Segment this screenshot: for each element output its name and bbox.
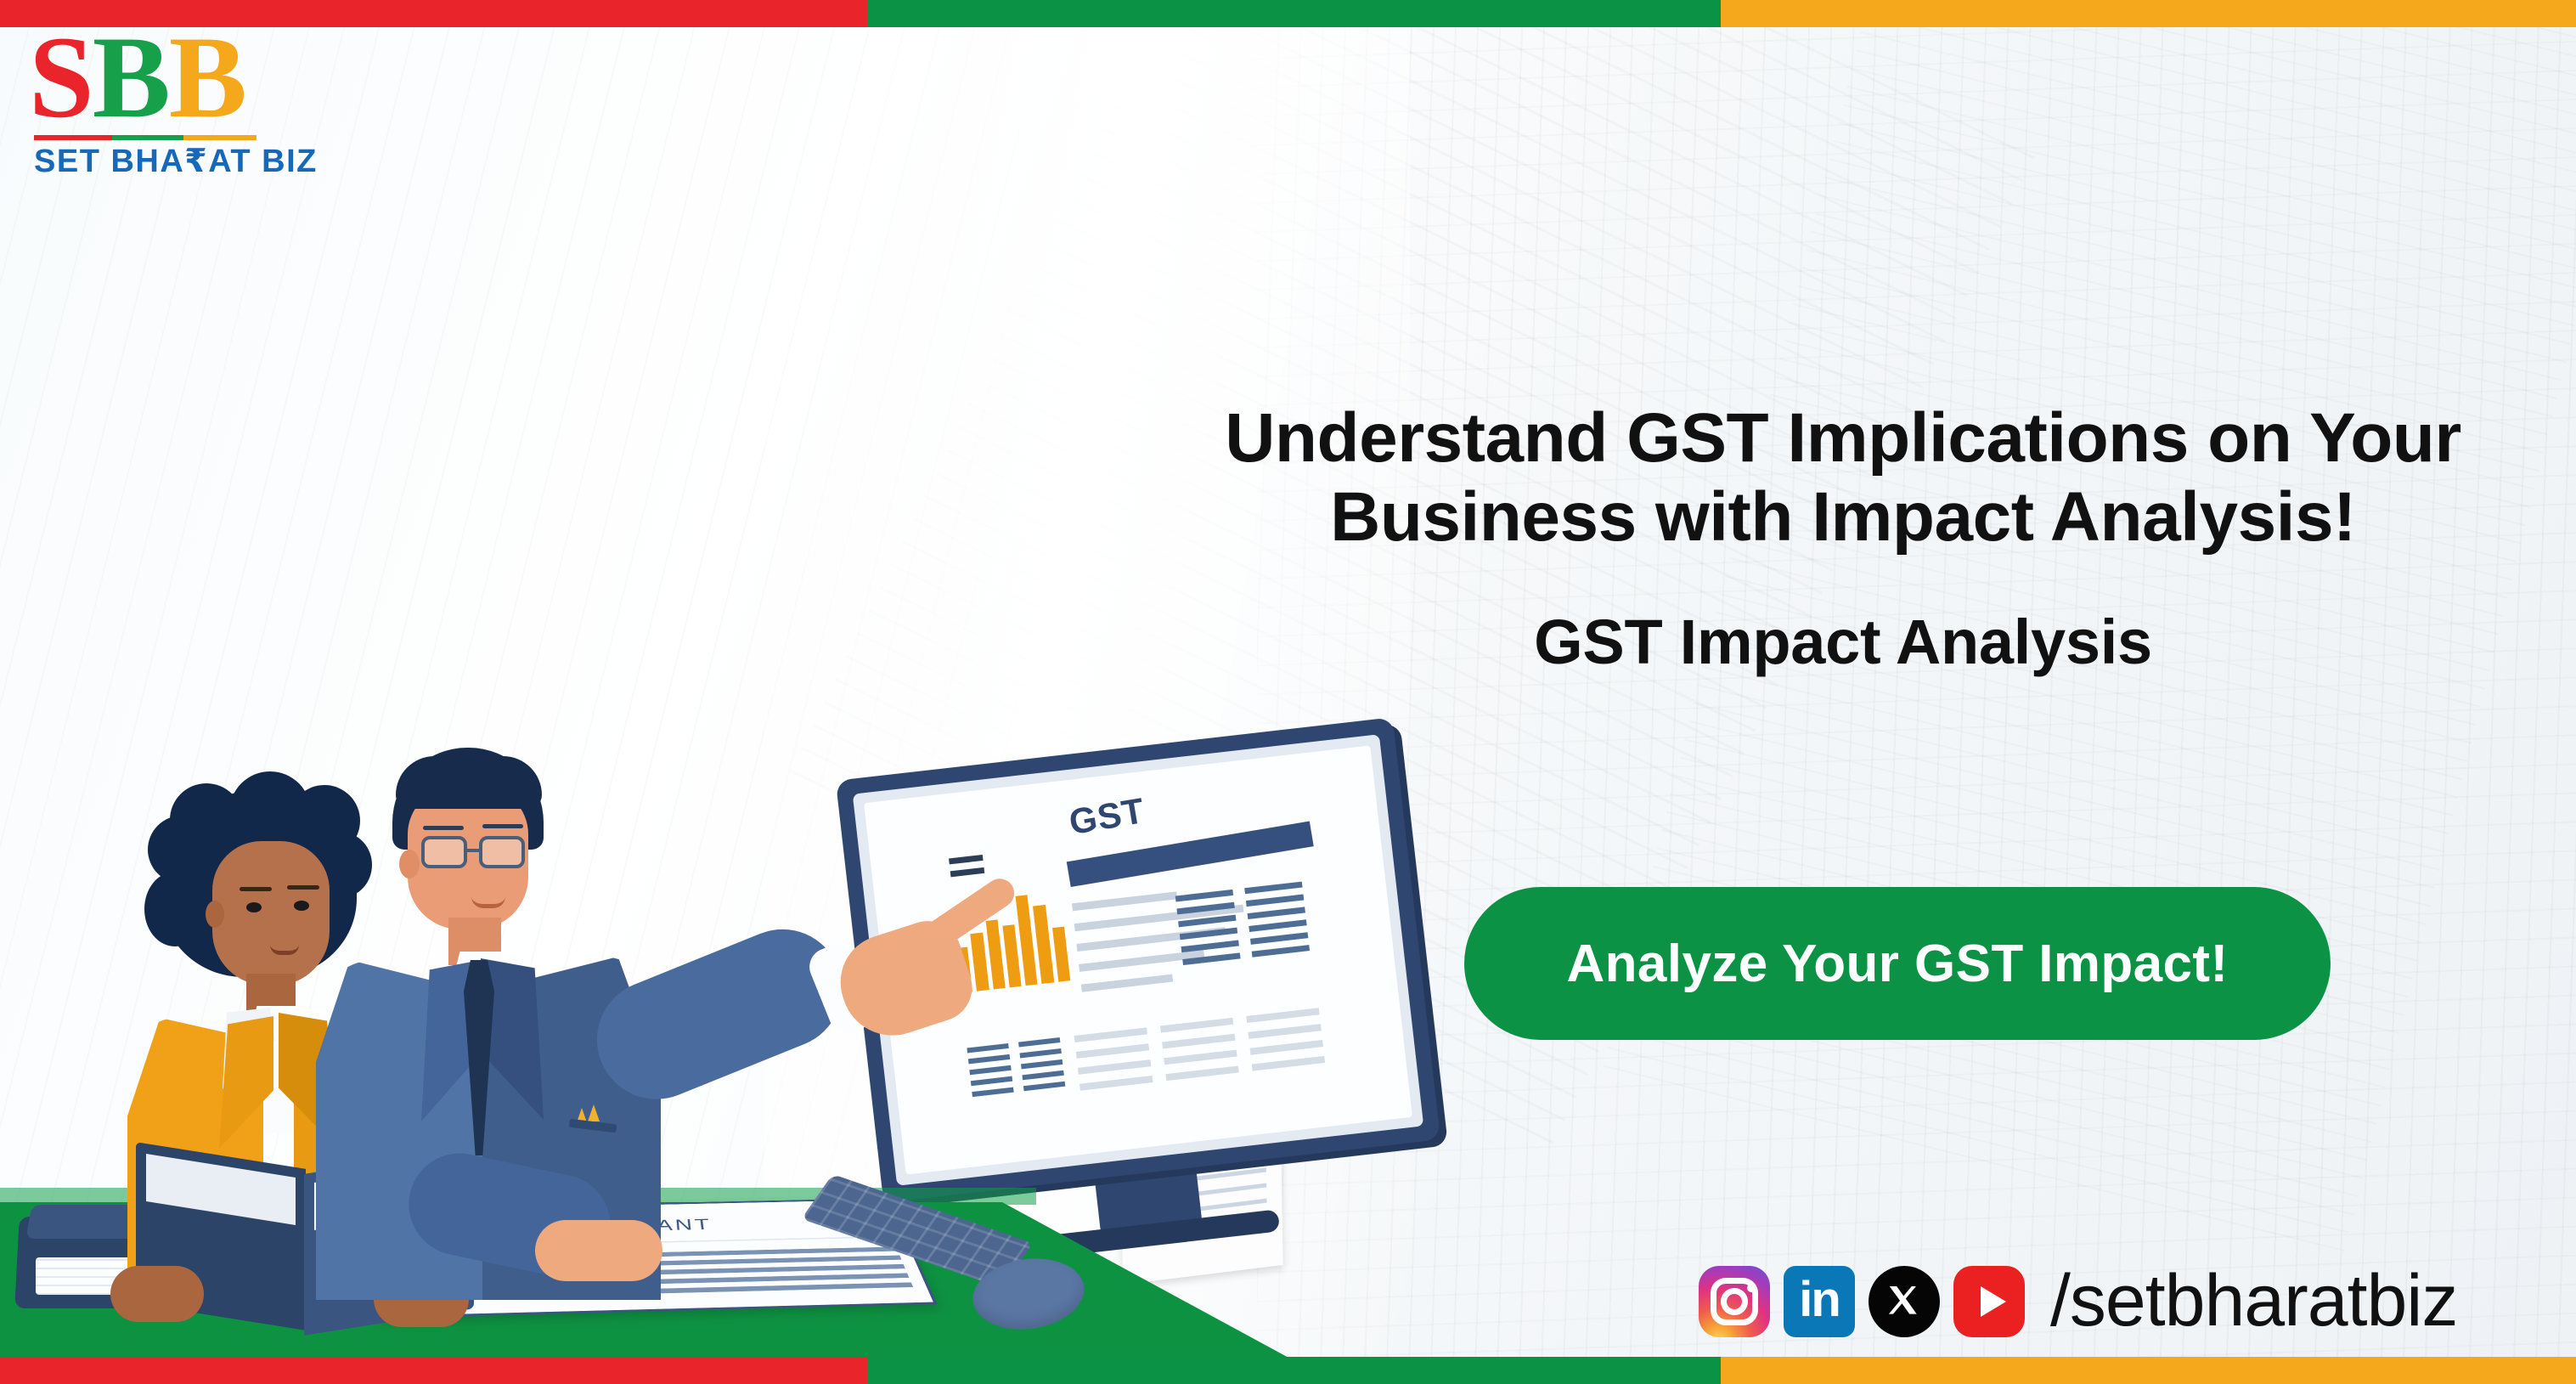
instagram-icon[interactable] bbox=[1699, 1266, 1770, 1337]
instagram-lens bbox=[1721, 1288, 1748, 1315]
logo-rule-green bbox=[112, 135, 183, 140]
table-column bbox=[967, 1043, 1014, 1103]
tick bbox=[949, 855, 984, 864]
table-row bbox=[1250, 932, 1308, 945]
instagram-dot bbox=[1747, 1284, 1756, 1292]
top-tricolor-bar bbox=[0, 0, 2576, 27]
table-row bbox=[1019, 1048, 1061, 1059]
paragraph-column bbox=[1160, 1018, 1240, 1090]
man-eyebrow bbox=[482, 824, 523, 828]
table-row bbox=[1022, 1070, 1063, 1081]
text-line bbox=[1076, 1043, 1149, 1059]
table-row bbox=[1181, 940, 1239, 952]
page-title: Understand GST Implications on Your Busi… bbox=[1130, 399, 2556, 556]
tricolor-segment-orange bbox=[1721, 1357, 2576, 1384]
logo-tagline-part2: AT BIZ bbox=[208, 144, 318, 179]
glasses-lens-left bbox=[421, 836, 467, 868]
logo-letter-b2: B bbox=[169, 12, 245, 142]
social-handle[interactable]: /setbharatbiz bbox=[2050, 1259, 2457, 1343]
table-column bbox=[1244, 882, 1311, 964]
headline-line-1: Understand GST Implications on Your bbox=[1130, 399, 2556, 478]
man-hand-resting bbox=[535, 1220, 662, 1281]
man-arm-pointing bbox=[579, 912, 860, 1117]
man-consultant bbox=[255, 748, 730, 1291]
table-row bbox=[971, 1076, 1012, 1087]
text-line bbox=[1081, 974, 1173, 992]
table-row bbox=[1244, 882, 1302, 895]
logo-tagline: SET BHA₹AT BIZ bbox=[34, 142, 284, 180]
rupee-icon: ₹ bbox=[184, 142, 208, 179]
bar bbox=[1002, 925, 1021, 988]
text-line bbox=[1074, 1027, 1147, 1042]
x-twitter-icon[interactable] bbox=[1869, 1266, 1940, 1337]
subheadline: GST Impact Analysis bbox=[1130, 606, 2556, 678]
glasses-bridge bbox=[467, 849, 481, 852]
table-row bbox=[1023, 1082, 1065, 1092]
glasses-lens-right bbox=[479, 836, 525, 868]
tricolor-segment-green bbox=[868, 0, 1721, 27]
gst-impact-analysis-banner: SBB SET BHA₹AT BIZ GST bbox=[0, 0, 2576, 1384]
text-line bbox=[1250, 1040, 1323, 1055]
table-column bbox=[1018, 1037, 1066, 1097]
table-row bbox=[969, 1065, 1011, 1076]
headline-line-2: Business with Impact Analysis! bbox=[1130, 478, 2556, 557]
woman-hair-puff bbox=[144, 872, 206, 946]
tick bbox=[950, 867, 985, 877]
woman-ear bbox=[206, 901, 224, 928]
text-line bbox=[1252, 1056, 1325, 1071]
table-row bbox=[1252, 945, 1310, 958]
text-line bbox=[1079, 1076, 1153, 1091]
man-eyebrow bbox=[423, 826, 464, 830]
text-line bbox=[1246, 1008, 1319, 1023]
text-line bbox=[1165, 1065, 1238, 1081]
woman-hand-left bbox=[110, 1266, 204, 1322]
logo-rule-red bbox=[34, 135, 112, 140]
bar bbox=[1052, 927, 1070, 982]
logo-rule-orange bbox=[183, 135, 256, 140]
tricolor-segment-red bbox=[0, 0, 868, 27]
table-row bbox=[1178, 915, 1236, 928]
paragraph-column bbox=[1246, 1008, 1326, 1080]
screen-tick-marks bbox=[949, 855, 985, 884]
hero-illustration: GST bbox=[0, 0, 1486, 1384]
paragraph-column bbox=[1074, 1027, 1154, 1099]
table-row bbox=[1018, 1037, 1060, 1048]
screen-title-gst: GST bbox=[1066, 790, 1147, 843]
man-ear bbox=[399, 850, 420, 878]
logo-tagline-part1: SET BHA bbox=[34, 144, 184, 179]
tricolor-segment-orange bbox=[1721, 0, 2576, 27]
logo-letter-s: S bbox=[29, 12, 93, 142]
table-row bbox=[1248, 907, 1305, 919]
youtube-icon[interactable] bbox=[1953, 1266, 2025, 1337]
text-line bbox=[1160, 1018, 1233, 1033]
bar bbox=[970, 932, 989, 991]
logo-letters: SBB bbox=[29, 24, 284, 132]
bottom-tricolor-bar bbox=[0, 1357, 2576, 1384]
table-row bbox=[1176, 902, 1234, 915]
table-row bbox=[1246, 894, 1304, 907]
text-line bbox=[1248, 1024, 1321, 1039]
youtube-play-triangle bbox=[1981, 1286, 2006, 1317]
table-row bbox=[1180, 928, 1237, 941]
social-links-row: in /setbharatbiz bbox=[1699, 1259, 2457, 1343]
eyeglasses-icon bbox=[421, 836, 533, 870]
man-hair-front bbox=[396, 756, 542, 809]
table-row bbox=[1249, 919, 1306, 932]
text-line bbox=[1072, 891, 1177, 911]
tricolor-segment-red bbox=[0, 1357, 868, 1384]
screen-paragraph-columns bbox=[1074, 1008, 1327, 1099]
headline-block: Understand GST Implications on Your Busi… bbox=[1130, 399, 2556, 678]
linkedin-label: in bbox=[1784, 1266, 1855, 1337]
table-row bbox=[967, 1043, 1008, 1054]
table-row bbox=[972, 1087, 1013, 1098]
table-row bbox=[1182, 952, 1240, 965]
table-row bbox=[968, 1054, 1010, 1065]
table-row bbox=[1021, 1059, 1063, 1070]
linkedin-icon[interactable]: in bbox=[1784, 1266, 1855, 1337]
logo-tricolor-rule bbox=[34, 135, 256, 140]
analyze-gst-impact-button[interactable]: Analyze Your GST Impact! bbox=[1464, 887, 2331, 1040]
screen-data-table-secondary bbox=[967, 1037, 1066, 1103]
table-column bbox=[1175, 890, 1242, 972]
logo-letter-b1: B bbox=[93, 12, 169, 142]
tricolor-segment-green bbox=[868, 1357, 1721, 1384]
text-line bbox=[1164, 1050, 1237, 1065]
brand-logo[interactable]: SBB SET BHA₹AT BIZ bbox=[29, 24, 284, 180]
text-line bbox=[1078, 1059, 1151, 1075]
text-line bbox=[1162, 1034, 1235, 1049]
screen-data-table bbox=[1175, 882, 1311, 972]
